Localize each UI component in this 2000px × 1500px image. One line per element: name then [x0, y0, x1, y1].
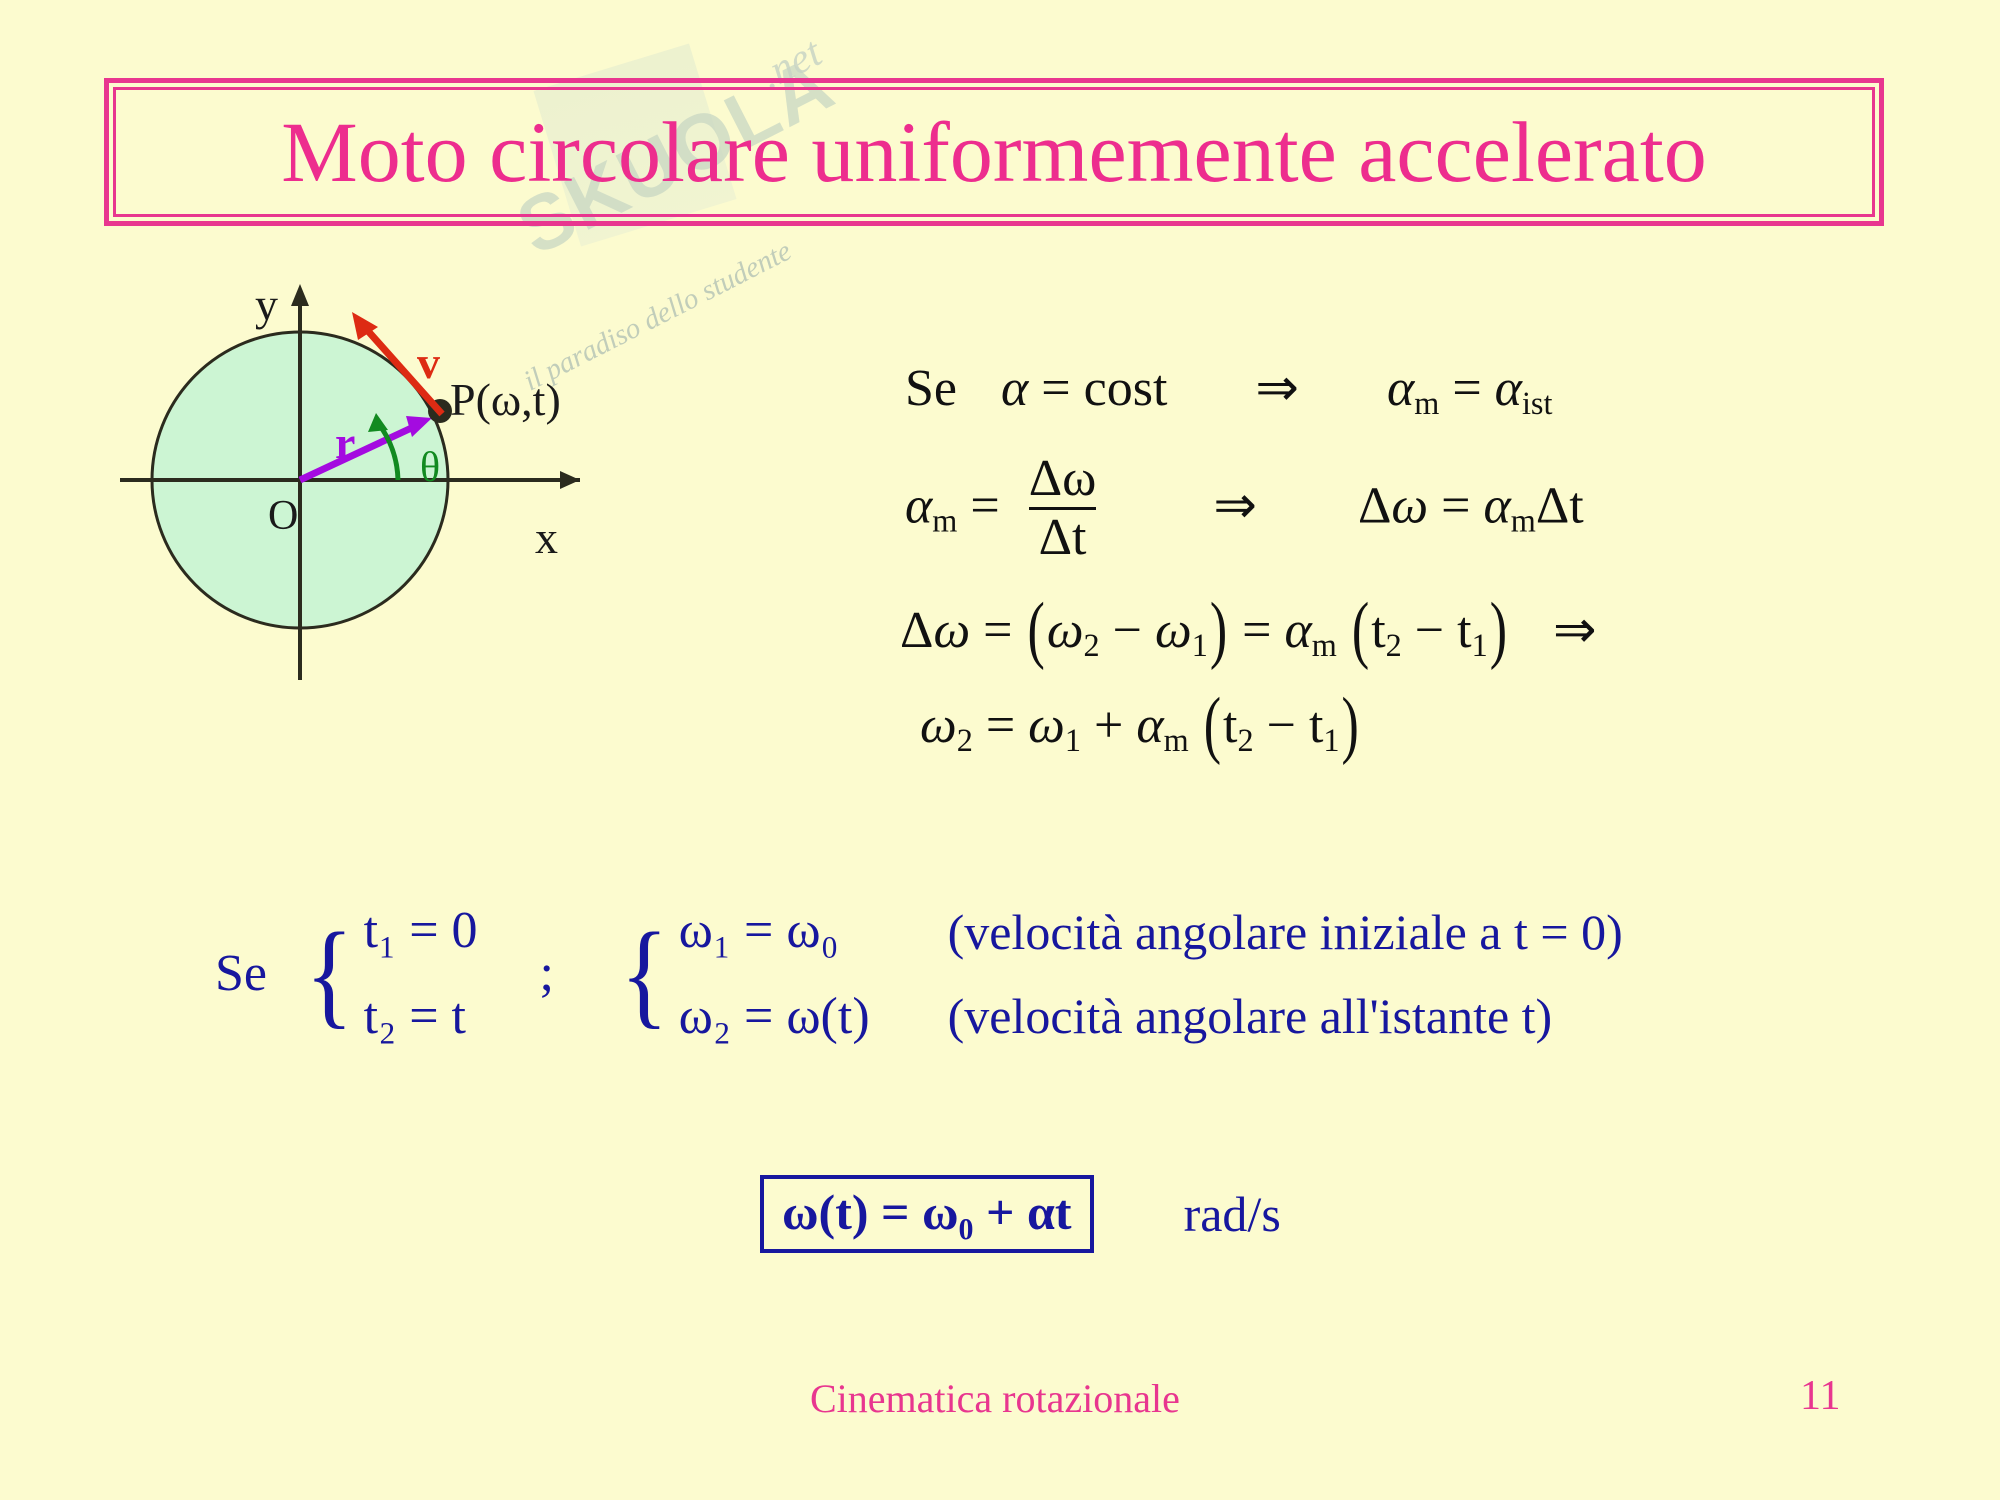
equation1-alpha-m: α	[1387, 360, 1414, 417]
angle-label-theta: θ	[420, 447, 440, 489]
delta-omega-over-delta-t-fraction: Δω Δt	[1019, 453, 1107, 564]
result-unit-label: rad/s	[1184, 1185, 1281, 1243]
result-row: ω(t) = ω₀ + αt rad/s	[760, 1175, 1281, 1253]
condition-description: (velocità angolare iniziale a t = 0)	[948, 907, 1623, 957]
equation1-prefix: Se	[905, 360, 957, 417]
condition-row: t₁ = 0	[364, 905, 478, 957]
conditions-prefix: Se	[215, 948, 267, 1000]
equation1-alpha: α	[1001, 360, 1028, 417]
condition-row: t₂ = t	[364, 991, 478, 1043]
left-brace-time-icon: {	[305, 926, 353, 1023]
page-title: Moto circolare uniformemente accelerato	[281, 109, 1706, 195]
equation-delta-omega-expanded: Δω = (ω2 − ω1) = αm (t2 − t1)⇒	[900, 605, 1597, 661]
origin-label: O	[268, 495, 298, 537]
axis-label-x: x	[535, 515, 558, 561]
point-p-label: P(ω,t)	[450, 377, 561, 423]
result-formula-box: ω(t) = ω₀ + αt	[760, 1175, 1094, 1253]
equation1-implies: ⇒	[1255, 360, 1299, 417]
axis-label-y: y	[255, 282, 278, 328]
condition-description: (velocità angolare all'istante t)	[948, 991, 1623, 1041]
fraction-denominator: Δt	[1029, 507, 1097, 564]
omega-conditions-rows: ω₁ = ω₀ ω₂ = ω(t)	[679, 905, 870, 1043]
equation-alpha-mean-definition: αm = Δω Δt ⇒ Δω = αmΔt	[905, 455, 1584, 566]
equation1-alpha-ist: α	[1495, 360, 1522, 417]
title-frame-inner: Moto circolare uniformemente accelerato	[113, 87, 1875, 217]
velocity-label: v	[417, 340, 440, 386]
fraction-numerator: Δω	[1019, 453, 1107, 507]
time-conditions-group: { t₁ = 0 t₂ = t	[301, 905, 478, 1043]
x-axis-arrowhead-icon	[560, 471, 580, 489]
conditions-block: Se { t₁ = 0 t₂ = t ; { ω₁ = ω₀ ω₂ = ω(t)…	[215, 905, 1623, 1043]
circular-motion-diagram: y x O v r θ P(ω,t)	[120, 280, 740, 710]
time-conditions-rows: t₁ = 0 t₂ = t	[364, 905, 478, 1043]
radius-label: r	[335, 420, 355, 466]
condition-row: ω₂ = ω(t)	[679, 991, 870, 1043]
conditions-separator: ;	[540, 948, 554, 1000]
left-brace-omega-icon: {	[620, 926, 668, 1023]
equation1-alpha-m-sub: m	[1414, 385, 1439, 421]
equation-alpha-constant: Seα = cost⇒αm = αist	[905, 363, 1552, 419]
condition-row: ω₁ = ω₀	[679, 905, 870, 957]
title-frame: Moto circolare uniformemente accelerato	[104, 78, 1884, 226]
y-axis-arrowhead-icon	[291, 284, 309, 306]
equation-omega2-result: ω2 = ω1 + αm (t2 − t1)	[920, 700, 1361, 756]
equation1-cost: cost	[1084, 360, 1168, 417]
conditions-descriptions: (velocità angolare iniziale a t = 0) (ve…	[948, 907, 1623, 1041]
equation1-alpha-ist-sub: ist	[1522, 385, 1552, 421]
omega-conditions-group: { ω₁ = ω₀ ω₂ = ω(t)	[616, 905, 870, 1043]
footer-section-title: Cinematica rotazionale	[810, 1375, 1180, 1422]
footer-page-number: 11	[1800, 1372, 1840, 1420]
slide-canvas: SKUOLA .net il paradiso dello studente M…	[0, 0, 2000, 1500]
